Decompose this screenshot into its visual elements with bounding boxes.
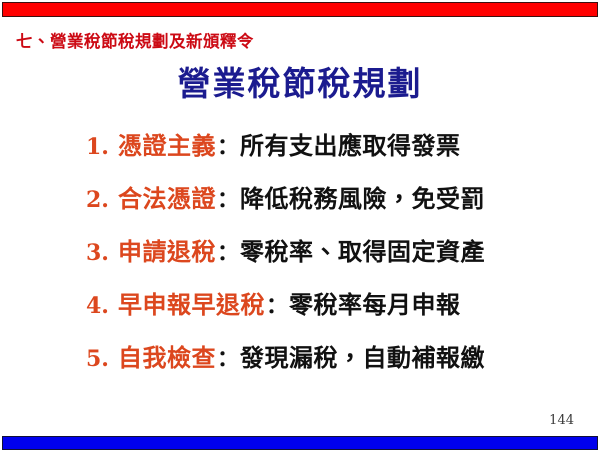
list-item-number: 2. xyxy=(86,187,118,213)
list-item-term: 申請退稅 xyxy=(118,232,216,267)
list-item-term: 憑證主義 xyxy=(118,126,216,161)
list-item: 5. 自我檢查 ： 發現漏稅，自動補報繳 xyxy=(86,338,586,391)
list-item-separator: ： xyxy=(216,129,240,161)
list-item-number: 4. xyxy=(86,293,118,319)
list-item-description: 降低稅務風險，免受罰 xyxy=(240,179,485,214)
list-item-term: 自我檢查 xyxy=(118,338,216,373)
list-item-term: 早申報早退稅 xyxy=(118,285,265,320)
page-title: 營業稅節稅規劃 xyxy=(0,57,600,105)
list-item-number: 3. xyxy=(86,240,118,266)
list-item-separator: ： xyxy=(216,182,240,214)
list-item-description: 零稅率每月申報 xyxy=(289,285,461,320)
list-item: 4. 早申報早退稅 ： 零稅率每月申報 xyxy=(86,285,586,338)
list-item: 2. 合法憑證 ： 降低稅務風險，免受罰 xyxy=(86,179,586,232)
top-accent-bar xyxy=(2,2,598,17)
list-item: 1. 憑證主義 ： 所有支出應取得發票 xyxy=(86,126,586,179)
list-item-separator: ： xyxy=(265,288,289,320)
tax-planning-list: 1. 憑證主義 ： 所有支出應取得發票 2. 合法憑證 ： 降低稅務風險，免受罰… xyxy=(86,126,586,391)
slide-canvas: 七、營業稅節稅規劃及新頒釋令 營業稅節稅規劃 1. 憑證主義 ： 所有支出應取得… xyxy=(0,0,600,450)
list-item-separator: ： xyxy=(216,235,240,267)
bottom-accent-bar xyxy=(2,436,598,450)
list-item-description: 發現漏稅，自動補報繳 xyxy=(240,338,485,373)
list-item-description: 零稅率、取得固定資產 xyxy=(240,232,485,267)
list-item-number: 1. xyxy=(86,134,118,160)
page-number: 144 xyxy=(549,413,574,428)
list-item: 3. 申請退稅 ： 零稅率、取得固定資產 xyxy=(86,232,586,285)
list-item-description: 所有支出應取得發票 xyxy=(240,126,461,161)
list-item-term: 合法憑證 xyxy=(118,179,216,214)
section-label: 七、營業稅節稅規劃及新頒釋令 xyxy=(16,28,254,52)
list-item-number: 5. xyxy=(86,346,118,372)
list-item-separator: ： xyxy=(216,341,240,373)
